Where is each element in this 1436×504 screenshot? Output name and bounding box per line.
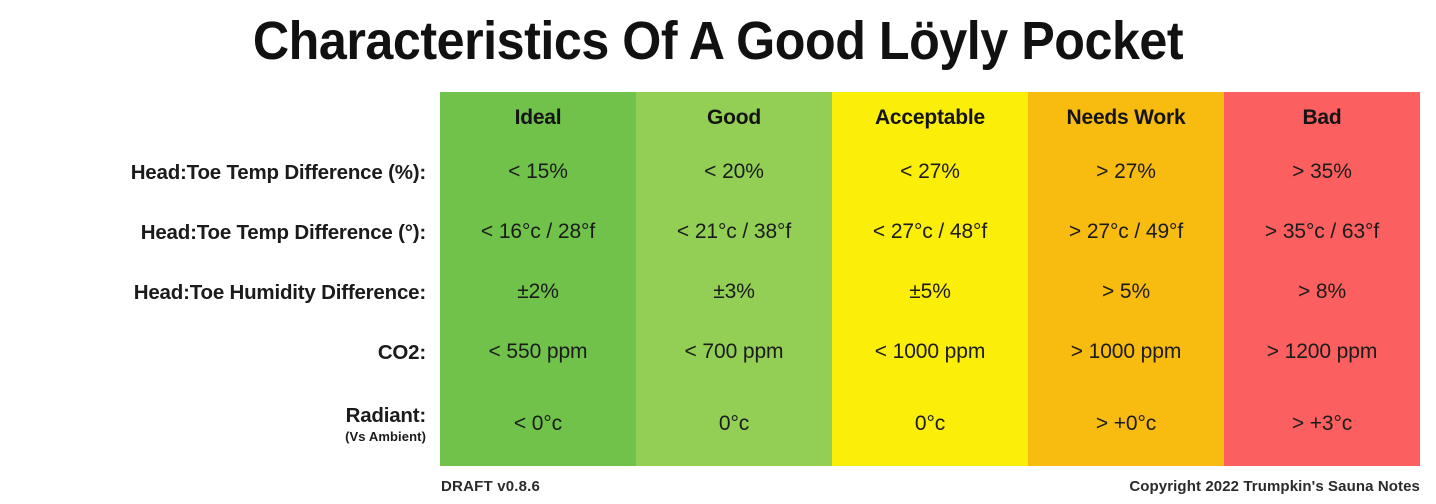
cell-temp-percent-needs-work: > 27% xyxy=(1028,142,1224,202)
row-label-radiant: Radiant: (Vs Ambient) xyxy=(0,382,440,466)
cell-temp-percent-good: < 20% xyxy=(636,142,832,202)
page-title: Characteristics Of A Good Löyly Pocket xyxy=(50,6,1385,76)
criteria-table: Ideal Good Acceptable Needs Work Bad Hea… xyxy=(0,92,1420,466)
table-row: Radiant: (Vs Ambient) < 0°c 0°c 0°c > +0… xyxy=(0,382,1420,466)
footer: DRAFT v0.8.6 Copyright 2022 Trumpkin's S… xyxy=(0,478,1436,504)
cell-temp-degrees-acceptable: < 27°c / 48°f xyxy=(832,202,1028,262)
cell-temp-percent-acceptable: < 27% xyxy=(832,142,1028,202)
row-label-head-toe-temp-degrees: Head:Toe Temp Difference (°): xyxy=(0,202,440,262)
cell-radiant-good: 0°c xyxy=(636,382,832,466)
cell-temp-degrees-ideal: < 16°c / 28°f xyxy=(440,202,636,262)
column-header-needs-work: Needs Work xyxy=(1028,92,1224,142)
cell-temp-percent-bad: > 35% xyxy=(1224,142,1420,202)
row-label-head-toe-humidity: Head:Toe Humidity Difference: xyxy=(0,262,440,322)
column-header-good: Good xyxy=(636,92,832,142)
cell-radiant-needs-work: > +0°c xyxy=(1028,382,1224,466)
cell-humidity-needs-work: > 5% xyxy=(1028,262,1224,322)
cell-radiant-acceptable: 0°c xyxy=(832,382,1028,466)
column-header-bad: Bad xyxy=(1224,92,1420,142)
row-label-co2: CO2: xyxy=(0,322,440,382)
column-header-ideal: Ideal xyxy=(440,92,636,142)
characteristics-matrix: Ideal Good Acceptable Needs Work Bad Hea… xyxy=(0,92,1436,476)
row-label-radiant-sublabel: (Vs Ambient) xyxy=(0,428,426,445)
header-corner-spacer xyxy=(0,92,440,142)
copyright-label: Copyright 2022 Trumpkin's Sauna Notes xyxy=(1129,478,1420,495)
cell-humidity-ideal: ±2% xyxy=(440,262,636,322)
column-header-acceptable: Acceptable xyxy=(832,92,1028,142)
draft-version-label: DRAFT v0.8.6 xyxy=(441,478,540,495)
cell-temp-percent-ideal: < 15% xyxy=(440,142,636,202)
table-row: Head:Toe Temp Difference (°): < 16°c / 2… xyxy=(0,202,1420,262)
cell-radiant-ideal: < 0°c xyxy=(440,382,636,466)
row-label-head-toe-temp-percent: Head:Toe Temp Difference (%): xyxy=(0,142,440,202)
cell-temp-degrees-needs-work: > 27°c / 49°f xyxy=(1028,202,1224,262)
cell-co2-acceptable: < 1000 ppm xyxy=(832,322,1028,382)
table-header-row: Ideal Good Acceptable Needs Work Bad xyxy=(0,92,1420,142)
cell-radiant-bad: > +3°c xyxy=(1224,382,1420,466)
cell-humidity-acceptable: ±5% xyxy=(832,262,1028,322)
cell-co2-good: < 700 ppm xyxy=(636,322,832,382)
cell-co2-needs-work: > 1000 ppm xyxy=(1028,322,1224,382)
cell-humidity-bad: > 8% xyxy=(1224,262,1420,322)
row-label-radiant-text: Radiant: xyxy=(346,404,426,427)
cell-humidity-good: ±3% xyxy=(636,262,832,322)
cell-temp-degrees-bad: > 35°c / 63°f xyxy=(1224,202,1420,262)
table-row: CO2: < 550 ppm < 700 ppm < 1000 ppm > 10… xyxy=(0,322,1420,382)
cell-co2-ideal: < 550 ppm xyxy=(440,322,636,382)
table-row: Head:Toe Temp Difference (%): < 15% < 20… xyxy=(0,142,1420,202)
cell-co2-bad: > 1200 ppm xyxy=(1224,322,1420,382)
table-row: Head:Toe Humidity Difference: ±2% ±3% ±5… xyxy=(0,262,1420,322)
cell-temp-degrees-good: < 21°c / 38°f xyxy=(636,202,832,262)
